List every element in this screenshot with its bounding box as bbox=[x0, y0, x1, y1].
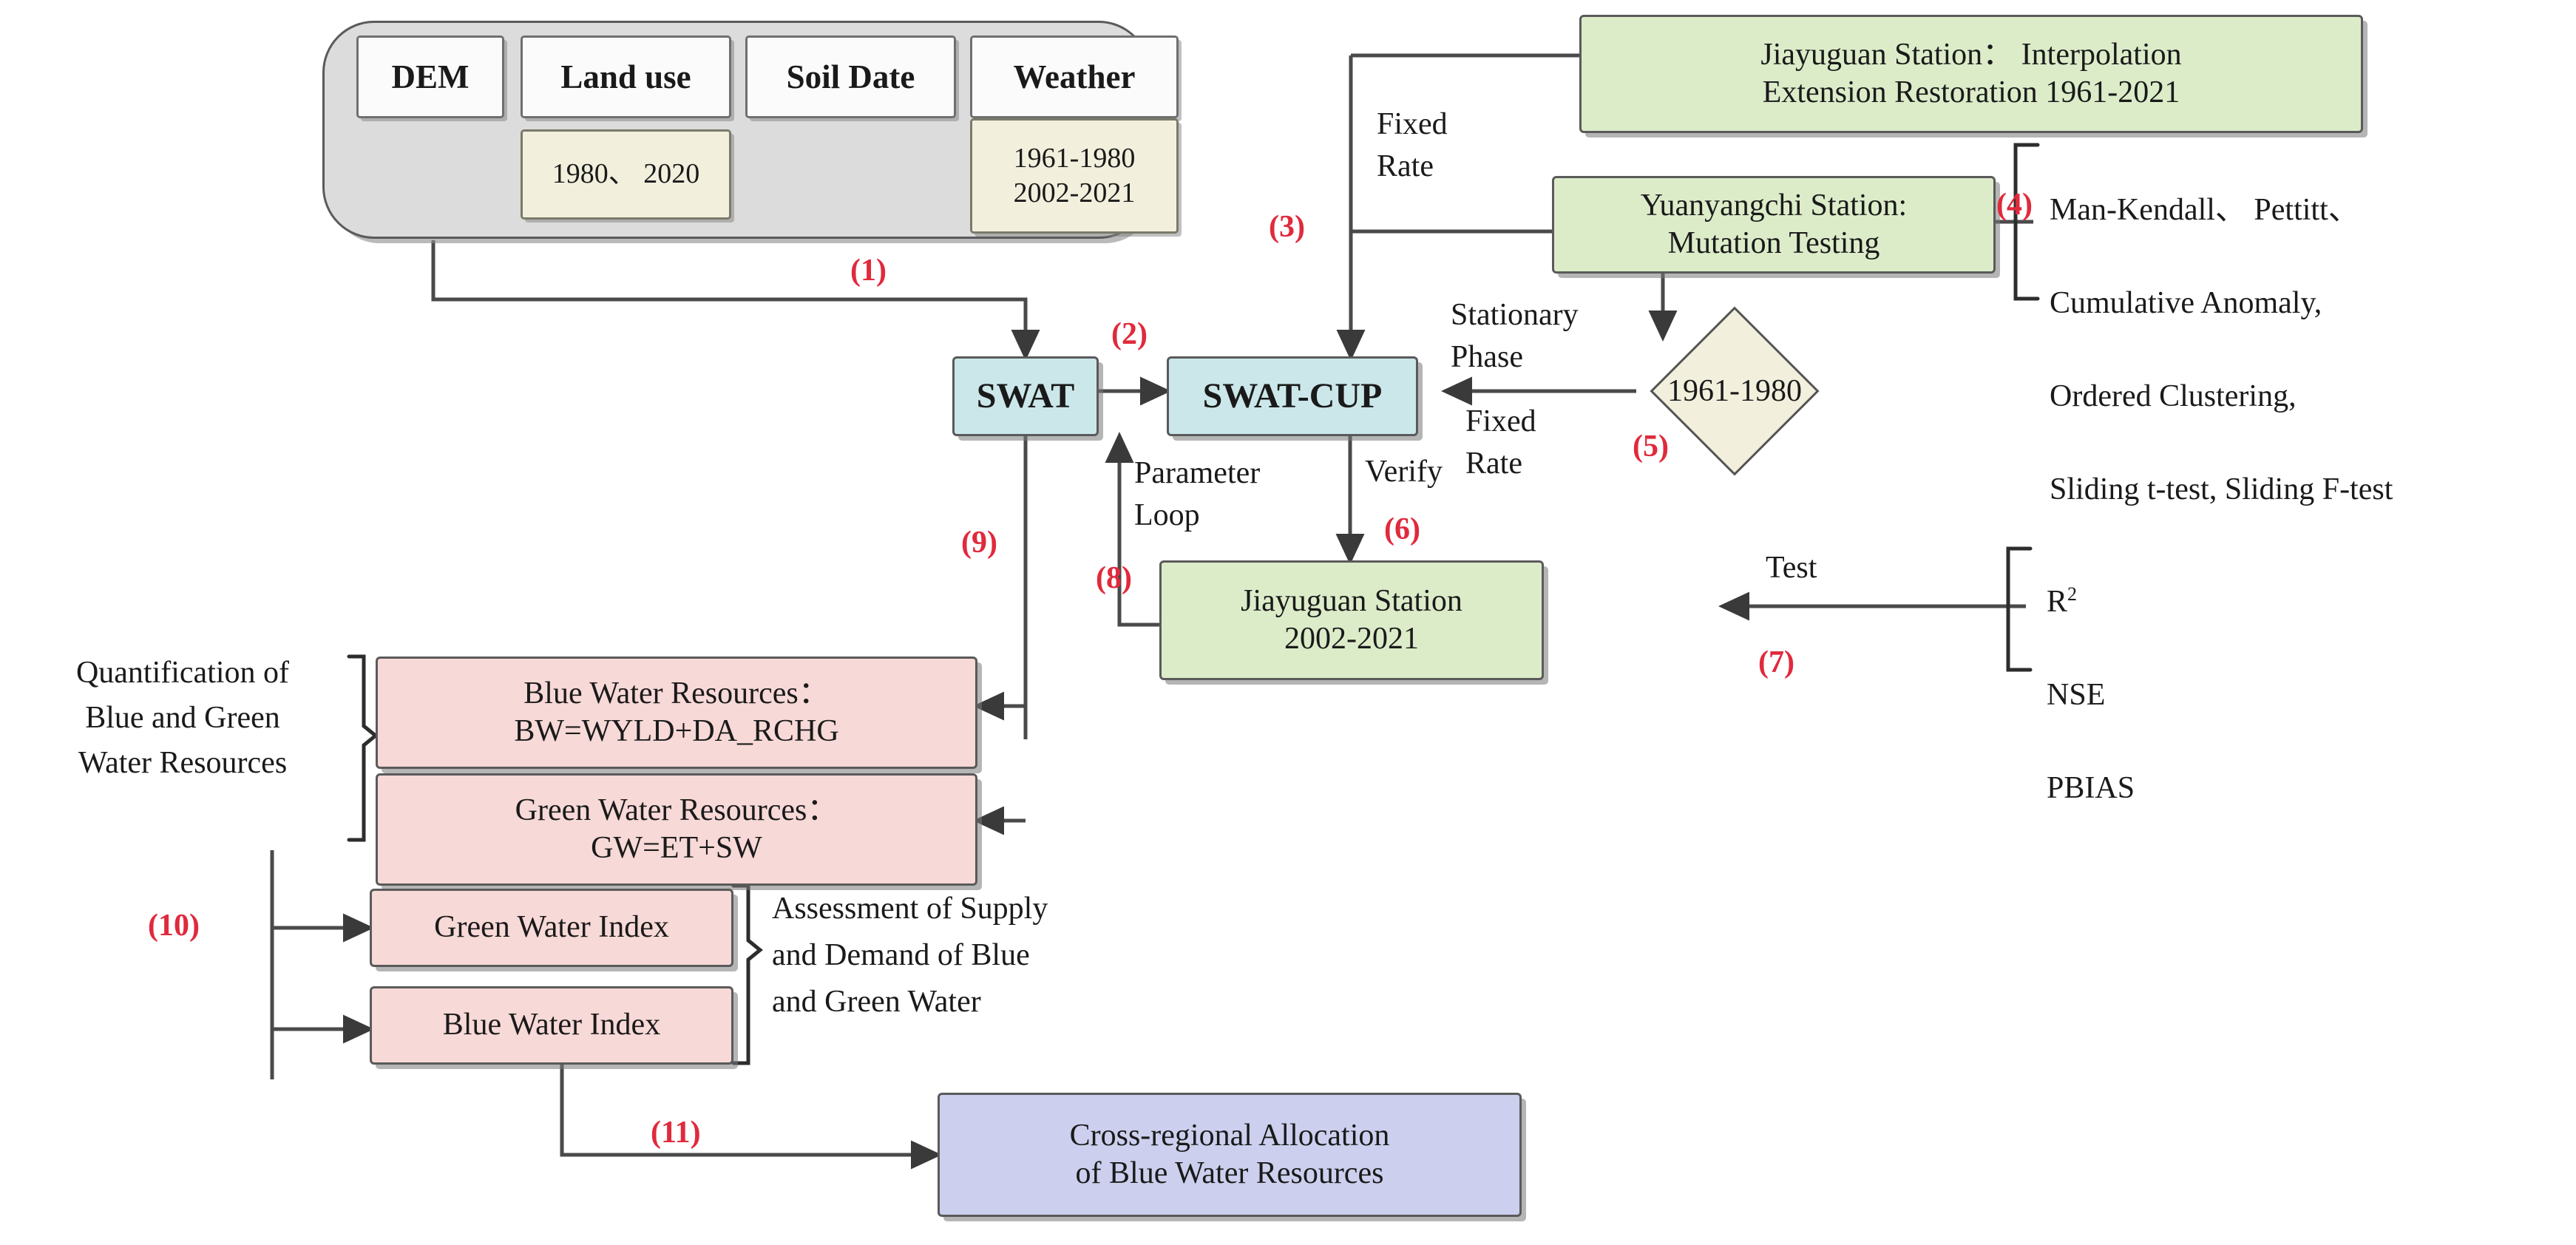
node-swat-cup[interactable]: SWAT-CUP bbox=[1167, 356, 1418, 436]
node-yuanyangchi-mutation[interactable]: Yuanyangchi Station: Mutation Testing bbox=[1552, 176, 1996, 274]
test-metrics-list: R2 NSE PBIAS bbox=[2047, 532, 2357, 858]
test-metric-pbias: PBIAS bbox=[2047, 765, 2357, 812]
node-blue-water-index[interactable]: Blue Water Index bbox=[370, 986, 733, 1065]
node-jiayuguan-interpolation[interactable]: Jiayuguan Station： Interpolation Extensi… bbox=[1579, 15, 2363, 133]
test-metric-nse: NSE bbox=[2047, 672, 2357, 719]
mutation-method-line-4: Sliding t-test, Sliding F-test bbox=[2050, 467, 2576, 513]
node-yuanyangchi-line1: Yuanyangchi Station: bbox=[1633, 187, 1914, 225]
test-metric-r-label: R bbox=[2047, 585, 2067, 619]
node-green-water-resources[interactable]: Green Water Resources： GW=ET+SW bbox=[376, 773, 977, 886]
step-number-6: (6) bbox=[1384, 512, 1420, 547]
step-number-10: (10) bbox=[148, 908, 200, 943]
step-number-3: (3) bbox=[1269, 209, 1305, 245]
node-jiayuguan-validation-line2: 2002-2021 bbox=[1277, 620, 1426, 658]
source-chip-weather[interactable]: Weather bbox=[970, 35, 1179, 118]
test-metric-r-squared: R2 bbox=[2047, 579, 2357, 625]
node-swat-cup-label: SWAT-CUP bbox=[1196, 375, 1390, 418]
node-green-water-line1: Green Water Resources： bbox=[508, 792, 846, 830]
source-chip-dem-label: DEM bbox=[392, 58, 470, 96]
node-green-water-line2: GW=ET+SW bbox=[583, 830, 770, 867]
mutation-method-line-1: Man-Kendall、 Pettitt、 bbox=[2050, 187, 2576, 234]
step-number-4: (4) bbox=[1996, 187, 2033, 223]
mutation-method-line-2: Cumulative Anomaly, bbox=[2050, 280, 2576, 327]
source-chip-soil-date[interactable]: Soil Date bbox=[745, 35, 956, 118]
source-chip-dem[interactable]: DEM bbox=[356, 35, 504, 118]
step-number-1: (1) bbox=[850, 253, 887, 288]
test-metric-r-exponent: 2 bbox=[2067, 583, 2077, 605]
source-chip-land-use[interactable]: Land use bbox=[521, 35, 731, 118]
weather-years-line2: 2002-2021 bbox=[1014, 176, 1136, 211]
node-jiayuguan-interpolation-line1: Jiayuguan Station： Interpolation bbox=[1753, 36, 2189, 74]
node-yuanyangchi-line2: Mutation Testing bbox=[1661, 225, 1888, 262]
annotation-assessment: Assessment of Supply and Demand of Blue … bbox=[772, 886, 1171, 1025]
weather-years-line1: 1961-1980 bbox=[1014, 141, 1136, 177]
step-number-11: (11) bbox=[651, 1115, 701, 1150]
node-outcome-line1: Cross-regional Allocation bbox=[1062, 1117, 1397, 1155]
annotation-test: Test bbox=[1766, 549, 1914, 588]
annotation-stationary-phase: Stationary Phase bbox=[1451, 294, 1672, 378]
node-blue-water-resources[interactable]: Blue Water Resources： BW=WYLD+DA_RCHG bbox=[376, 657, 977, 769]
mutation-method-line-3: Ordered Clustering, bbox=[2050, 373, 2576, 420]
source-chip-weather-label: Weather bbox=[1014, 58, 1136, 96]
node-cross-regional-allocation[interactable]: Cross-regional Allocation of Blue Water … bbox=[938, 1093, 1522, 1217]
step-number-7: (7) bbox=[1758, 645, 1794, 680]
node-outcome-line2: of Blue Water Resources bbox=[1068, 1155, 1392, 1193]
decision-period-label: 1961-1980 bbox=[1667, 373, 1802, 409]
land-use-years-text: 1980、 2020 bbox=[552, 157, 700, 192]
step-number-5: (5) bbox=[1633, 429, 1669, 464]
step-number-2: (2) bbox=[1111, 316, 1148, 352]
node-swat-label: SWAT bbox=[969, 375, 1082, 418]
source-chip-soil-date-label: Soil Date bbox=[787, 58, 915, 96]
node-swat[interactable]: SWAT bbox=[952, 356, 1099, 436]
node-jiayuguan-interpolation-line2: Extension Restoration 1961-2021 bbox=[1755, 74, 2188, 112]
flowchart-canvas: DEM Land use Soil Date Weather 1980、 202… bbox=[0, 0, 2576, 1245]
node-green-water-index[interactable]: Green Water Index bbox=[370, 889, 733, 967]
annotation-verify: Verify bbox=[1365, 452, 1528, 492]
step-number-9: (9) bbox=[961, 525, 997, 560]
mutation-methods-list: Man-Kendall、 Pettitt、 Cumulative Anomaly… bbox=[2050, 140, 2576, 560]
source-chip-land-use-label: Land use bbox=[560, 58, 691, 96]
node-blue-water-line1: Blue Water Resources： bbox=[516, 675, 836, 713]
annotation-parameter-loop: Parameter Loop bbox=[1134, 452, 1356, 536]
step-number-8: (8) bbox=[1096, 560, 1132, 596]
node-jiayuguan-validation[interactable]: Jiayuguan Station 2002-2021 bbox=[1159, 560, 1544, 680]
annotation-quantification: Quantification of Blue and Green Water R… bbox=[16, 651, 349, 786]
node-blue-water-index-label: Blue Water Index bbox=[435, 1006, 668, 1044]
node-blue-water-line2: BW=WYLD+DA_RCHG bbox=[506, 713, 846, 750]
node-green-water-index-label: Green Water Index bbox=[427, 909, 677, 946]
land-use-years-value: 1980、 2020 bbox=[521, 129, 731, 220]
annotation-fixed-rate-top: Fixed Rate bbox=[1377, 104, 1547, 187]
weather-years-value: 1961-1980 2002-2021 bbox=[970, 118, 1179, 234]
node-jiayuguan-validation-line1: Jiayuguan Station bbox=[1233, 583, 1470, 620]
